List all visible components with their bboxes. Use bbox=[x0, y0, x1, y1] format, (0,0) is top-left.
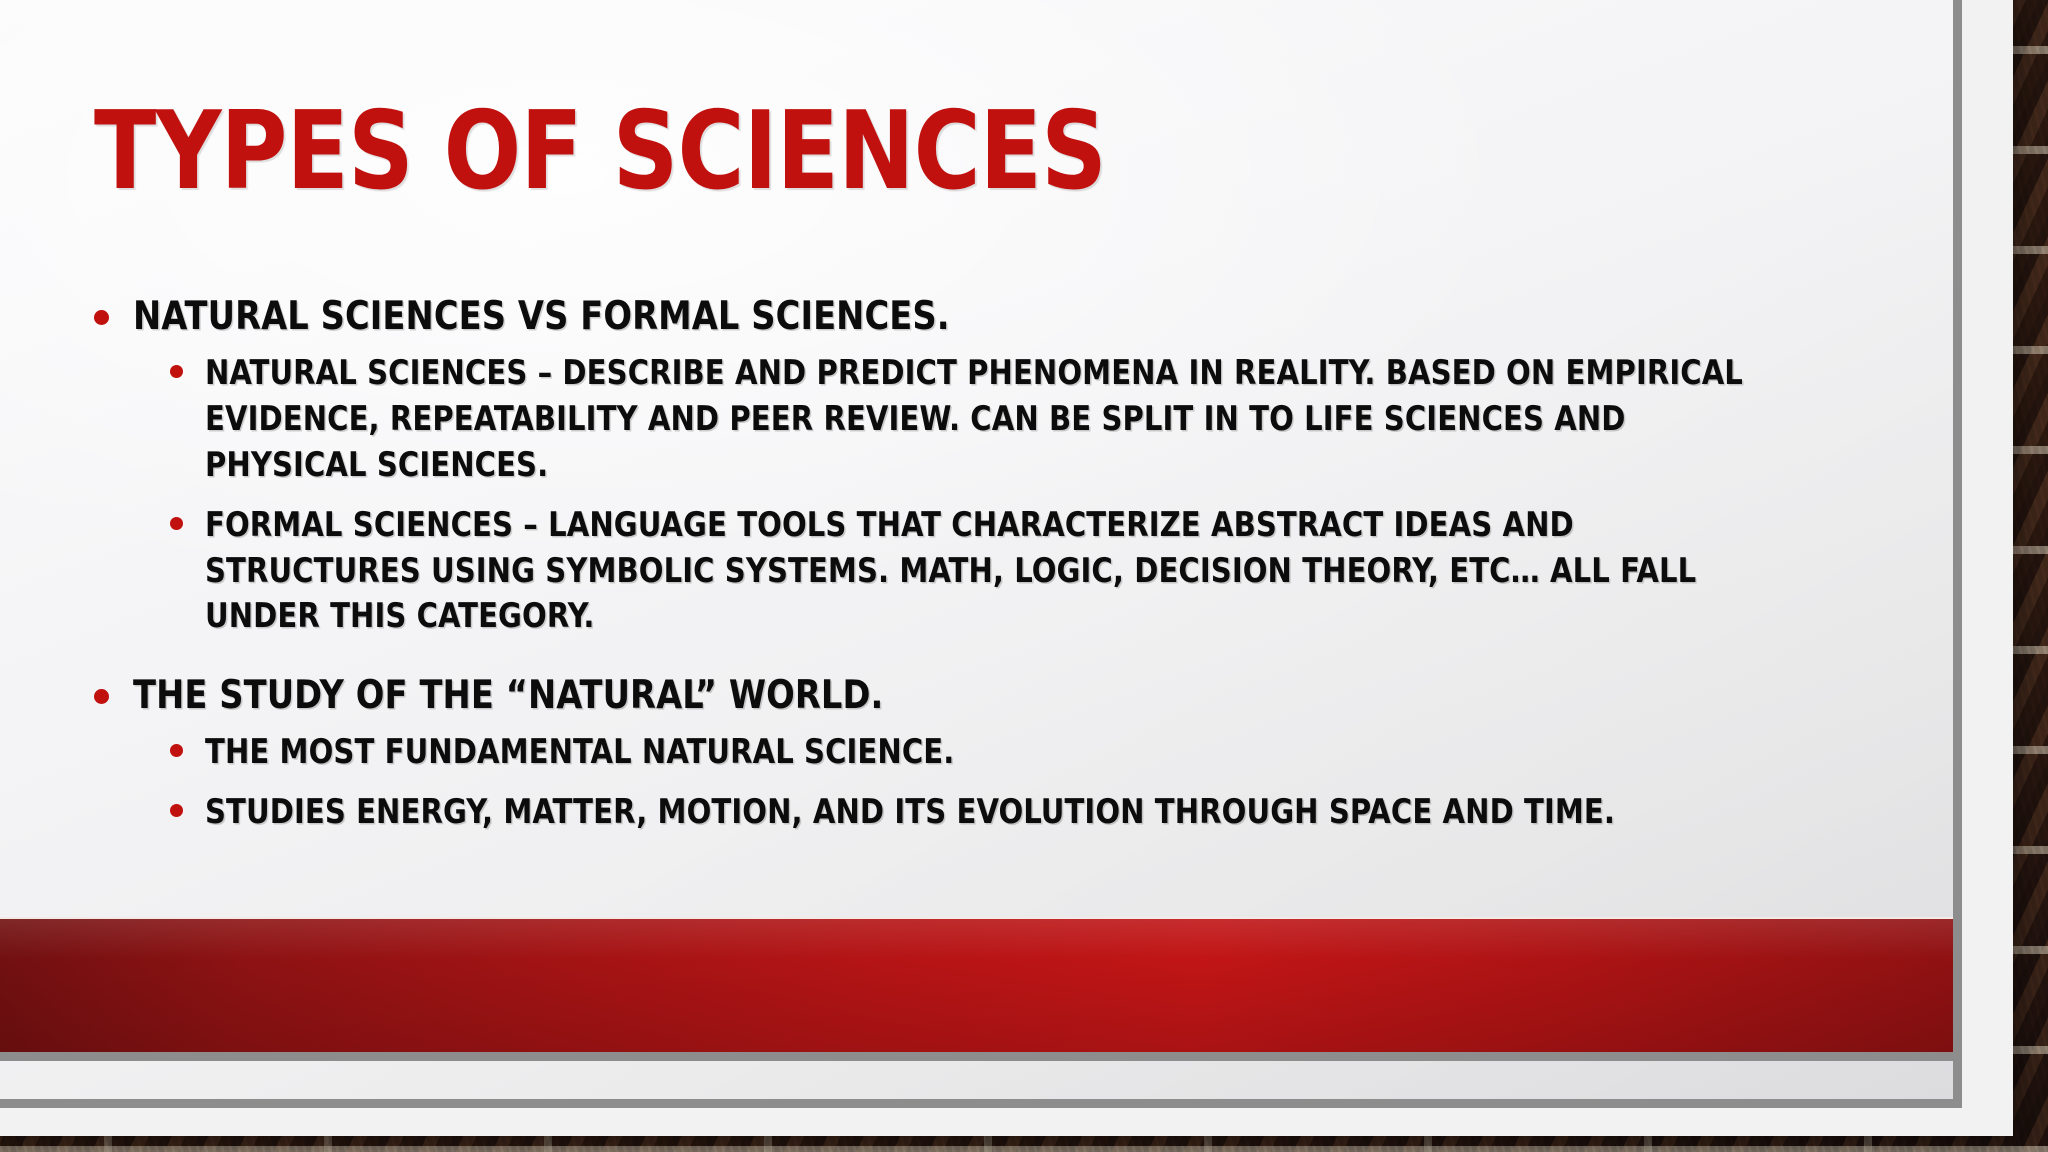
list-item: Natural sciences vs formal sciences. bbox=[94, 294, 1806, 340]
list-item-label: The study of the “natural” world. bbox=[133, 673, 883, 719]
list-item-label: The most fundamental natural science. bbox=[205, 729, 954, 775]
bullet-dot-icon bbox=[170, 517, 183, 530]
list-item-label: Studies energy, matter, motion, and its … bbox=[205, 789, 1615, 835]
footer-accent-band bbox=[0, 917, 1953, 1053]
list-group-spacer bbox=[94, 653, 1806, 673]
page-title: Types of Sciences bbox=[94, 98, 1106, 206]
slide-frame: Types of Sciences Natural sciences vs fo… bbox=[0, 0, 2013, 1136]
bullet-list: Natural sciences vs formal sciences. Nat… bbox=[94, 294, 1806, 849]
list-item-label: Natural sciences vs formal sciences. bbox=[133, 294, 950, 340]
bullet-dot-icon bbox=[170, 744, 183, 757]
bullet-dot-icon bbox=[94, 310, 109, 325]
list-item: Natural sciences – describe and predict … bbox=[170, 350, 1806, 488]
slide-canvas: Types of Sciences Natural sciences vs fo… bbox=[0, 0, 1953, 1099]
bullet-dot-icon bbox=[170, 365, 183, 378]
bullet-dot-icon bbox=[94, 689, 109, 704]
list-item: Formal sciences – language tools that ch… bbox=[170, 502, 1806, 640]
list-item-label: Natural sciences – describe and predict … bbox=[205, 350, 1750, 488]
list-item: The most fundamental natural science. bbox=[170, 729, 1806, 775]
footer-divider-rule bbox=[0, 1052, 1953, 1061]
list-item-label: Formal sciences – language tools that ch… bbox=[205, 502, 1750, 640]
list-item: The study of the “natural” world. bbox=[94, 673, 1806, 719]
bullet-dot-icon bbox=[170, 804, 183, 817]
list-item: Studies energy, matter, motion, and its … bbox=[170, 789, 1806, 835]
footer-accent-band-shading bbox=[0, 919, 1953, 1053]
